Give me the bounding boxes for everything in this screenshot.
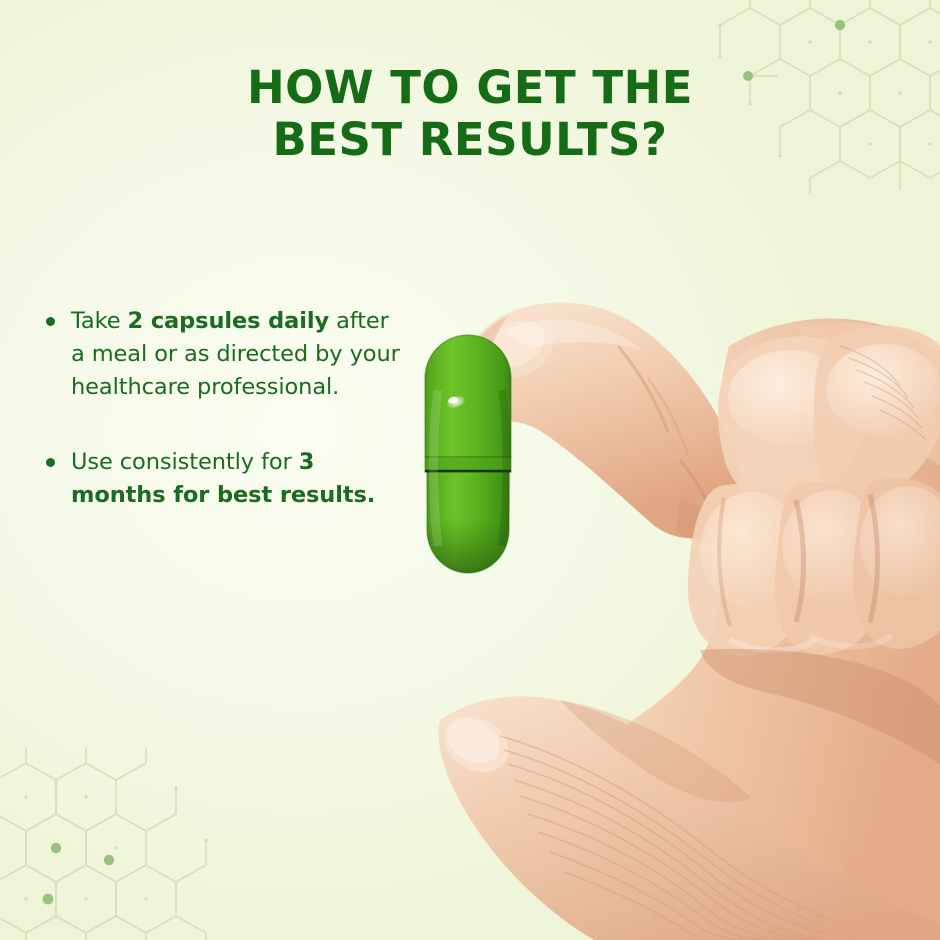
- bullet-0-bold: 2 capsules daily: [128, 308, 330, 334]
- page-title-line-2: BEST RESULTS?: [0, 114, 940, 166]
- bullet-0-pre: Take: [71, 308, 128, 334]
- bullet-dot-icon: [46, 458, 55, 467]
- bullet-1-pre: Use consistently for: [71, 449, 299, 475]
- page-title-line-1: HOW TO GET THE: [0, 62, 940, 114]
- bullet-dot-icon: [46, 317, 55, 326]
- green-capsule: [416, 330, 520, 586]
- list-item-text: Take 2 capsules daily after a meal or as…: [71, 305, 404, 404]
- hand-holding-capsule-photo: [380, 250, 940, 940]
- hexagon-pattern-bottom-left-icon: [0, 748, 236, 940]
- list-item-text: Use consistently for 3 months for best r…: [71, 446, 404, 512]
- poster-canvas: HOW TO GET THE BEST RESULTS? Take 2 caps…: [0, 0, 940, 940]
- page-title: HOW TO GET THE BEST RESULTS?: [0, 62, 940, 166]
- list-item: Take 2 capsules daily after a meal or as…: [44, 305, 404, 404]
- list-item: Use consistently for 3 months for best r…: [44, 446, 404, 512]
- folded-fingers: [688, 326, 940, 656]
- instructions-list: Take 2 capsules daily after a meal or as…: [44, 305, 404, 554]
